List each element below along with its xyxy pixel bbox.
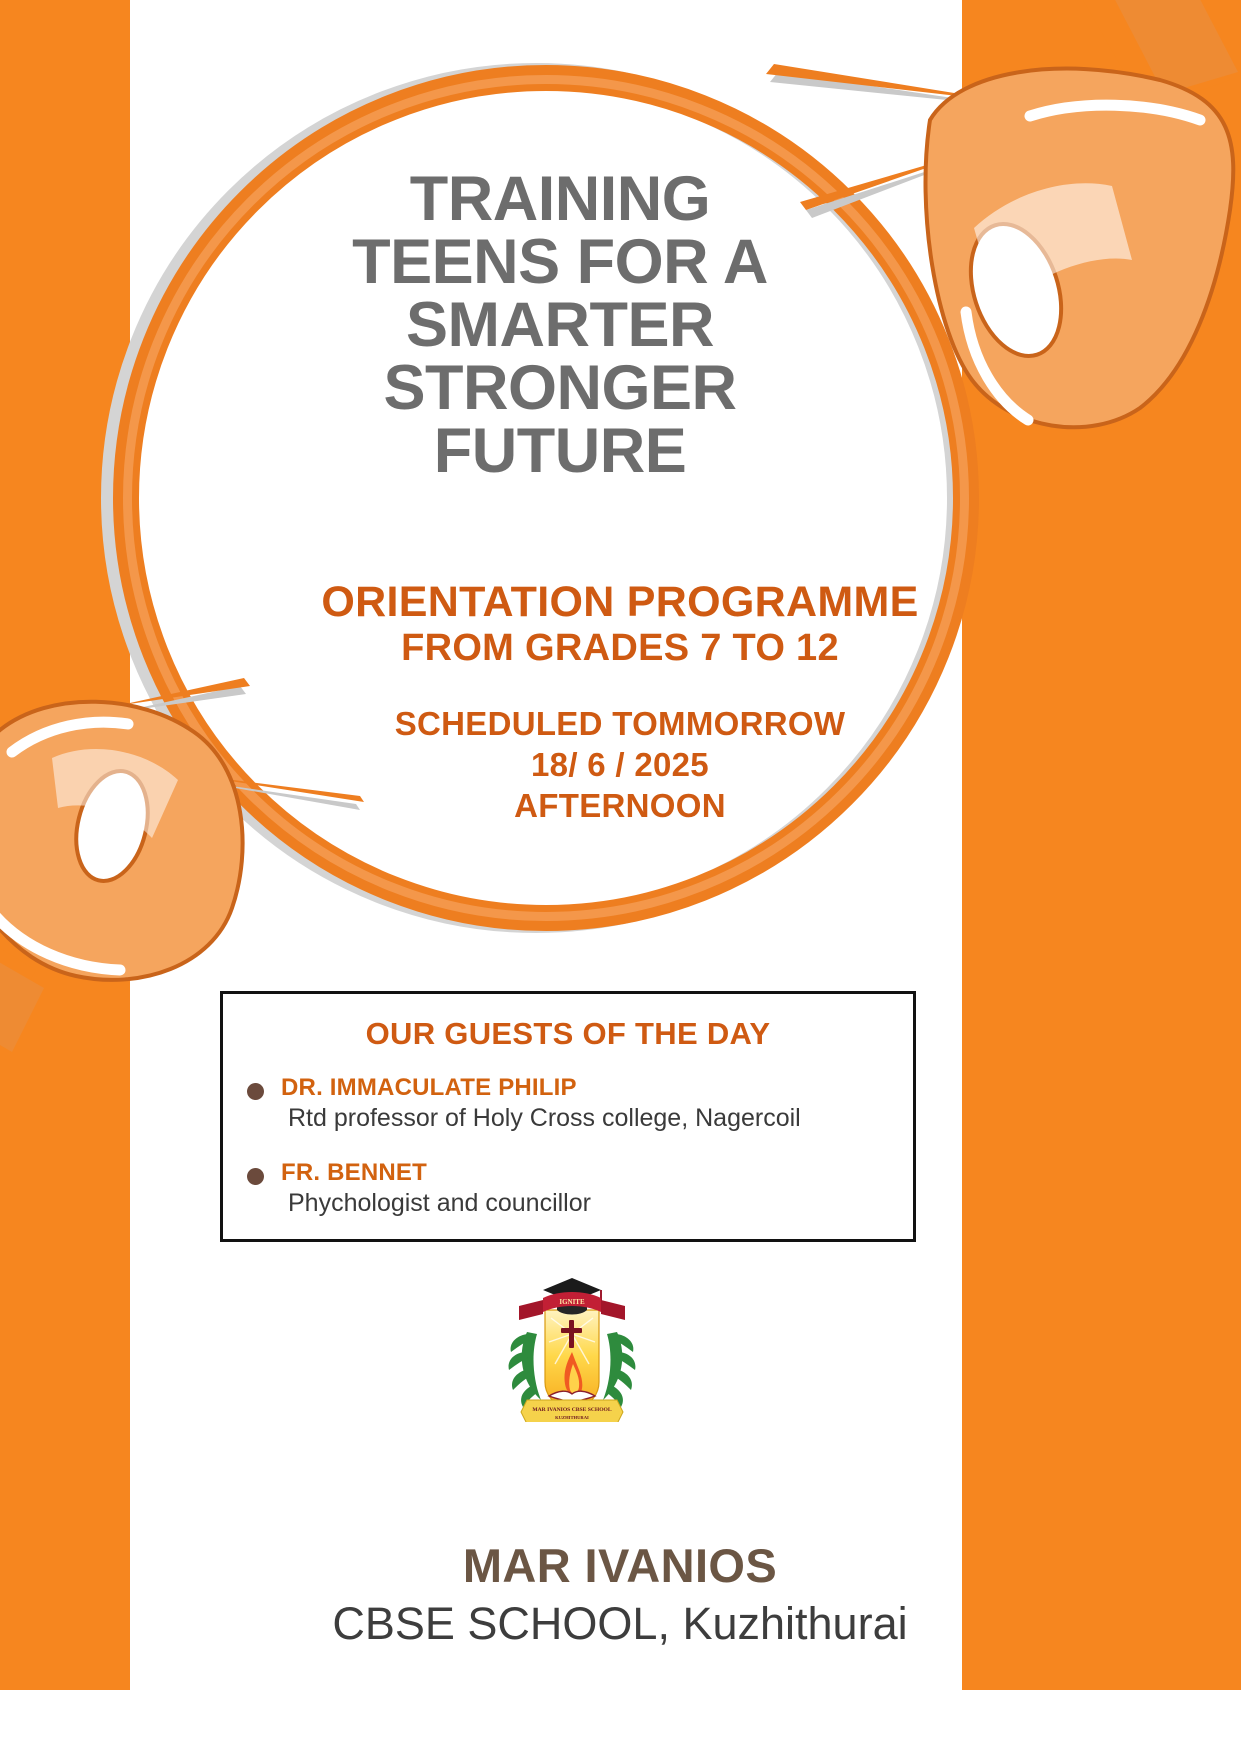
headline-line-4: STRONGER: [230, 357, 890, 420]
page-title: TRAINING TEENS FOR A SMARTER STRONGER FU…: [230, 168, 890, 483]
guest-description: Phychologist and councillor: [288, 1189, 913, 1218]
guest-list-item: DR. IMMACULATE PHILIP Rtd professor of H…: [223, 1074, 913, 1133]
school-subtitle: CBSE SCHOOL, Kuzhithurai: [170, 1598, 1070, 1650]
school-name: MAR IVANIOS: [170, 1538, 1070, 1593]
poster-content: TRAINING TEENS FOR A SMARTER STRONGER FU…: [0, 0, 1241, 1748]
crest-banner-text: IGNITE: [559, 1298, 585, 1306]
guest-list-item: FR. BENNET Phychologist and councillor: [223, 1159, 913, 1218]
subtitle-date: 18/ 6 / 2025: [150, 744, 1090, 785]
school-crest-logo: IGNITE MAR IVANIOS CBSE SCHOOL KUZHITHUR…: [497, 1272, 647, 1422]
guests-title: OUR GUESTS OF THE DAY: [223, 1016, 913, 1052]
guests-box: OUR GUESTS OF THE DAY DR. IMMACULATE PHI…: [220, 991, 916, 1242]
event-subtitle-block: ORIENTATION PROGRAMME FROM GRADES 7 TO 1…: [150, 578, 1090, 827]
headline-line-3: SMARTER: [230, 294, 890, 357]
guest-name: DR. IMMACULATE PHILIP: [281, 1074, 913, 1102]
poster-canvas: TRAINING TEENS FOR A SMARTER STRONGER FU…: [0, 0, 1241, 1748]
headline-line-1: TRAINING: [230, 168, 890, 231]
crest-ribbon-line-1: MAR IVANIOS CBSE SCHOOL: [532, 1407, 612, 1413]
guest-name: FR. BENNET: [281, 1159, 913, 1187]
subtitle-time: AFTERNOON: [150, 785, 1090, 826]
subtitle-programme: ORIENTATION PROGRAMME: [150, 578, 1090, 626]
headline-line-2: TEENS FOR A: [230, 231, 890, 294]
headline-line-5: FUTURE: [230, 420, 890, 483]
subtitle-grades: FROM GRADES 7 TO 12: [150, 626, 1090, 671]
bullet-dot-icon: [247, 1168, 264, 1185]
subtitle-scheduled: SCHEDULED TOMMORROW: [150, 703, 1090, 744]
guest-description: Rtd professor of Holy Cross college, Nag…: [288, 1104, 913, 1133]
bullet-dot-icon: [247, 1083, 264, 1100]
crest-ribbon-line-2: KUZHITHURAI: [555, 1415, 589, 1420]
